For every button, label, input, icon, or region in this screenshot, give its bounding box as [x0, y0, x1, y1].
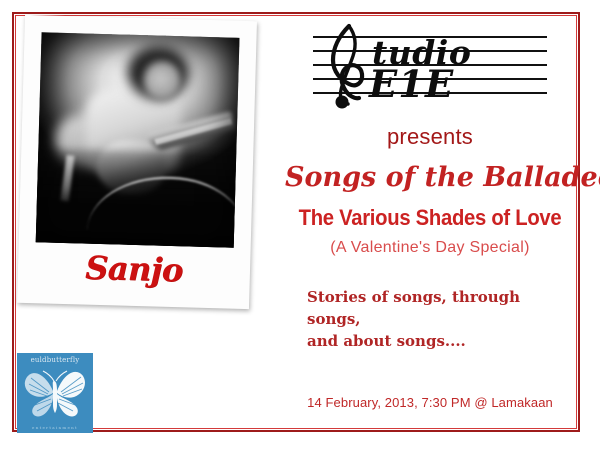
event-details: 14 February, 2013, 7:30 PM @ Lamakaan [285, 395, 575, 410]
blurb-line-2: and about songs.... [307, 331, 575, 353]
poster-text-column: tudio E1E presents Songs of the Balladee… [285, 18, 575, 428]
show-tagline: (A Valentine's Day Special) [285, 239, 575, 257]
show-blurb: Stories of songs, through songs, and abo… [285, 287, 575, 352]
photo-artwork [36, 32, 240, 247]
blurb-line-1: Stories of songs, through songs, [307, 287, 575, 331]
clef-dot [336, 96, 349, 109]
show-subtitle: The Various Shades of Love [297, 205, 564, 231]
photo-vignette [36, 32, 240, 247]
studio-e1e-logo: tudio E1E [305, 22, 555, 114]
polaroid-photo-frame: Sanjo [17, 15, 257, 309]
butterfly-sub-text: entertainment [17, 425, 93, 430]
euldbutterfly-logo: euldbutterfly [17, 353, 93, 433]
event-poster: Sanjo euldbutterfly [0, 0, 600, 450]
logo-wordmark: tudio E1E [357, 30, 547, 110]
photo-caption: Sanjo [18, 247, 251, 291]
performer-photo [36, 32, 240, 247]
show-title: Songs of the Balladeer [285, 162, 575, 193]
butterfly-brand-text: euldbutterfly [17, 356, 93, 364]
butterfly-icon [21, 365, 89, 421]
treble-clef-icon [319, 20, 375, 112]
logo-word-e1e: E1E [369, 66, 454, 103]
presents-label: presents [285, 124, 575, 150]
